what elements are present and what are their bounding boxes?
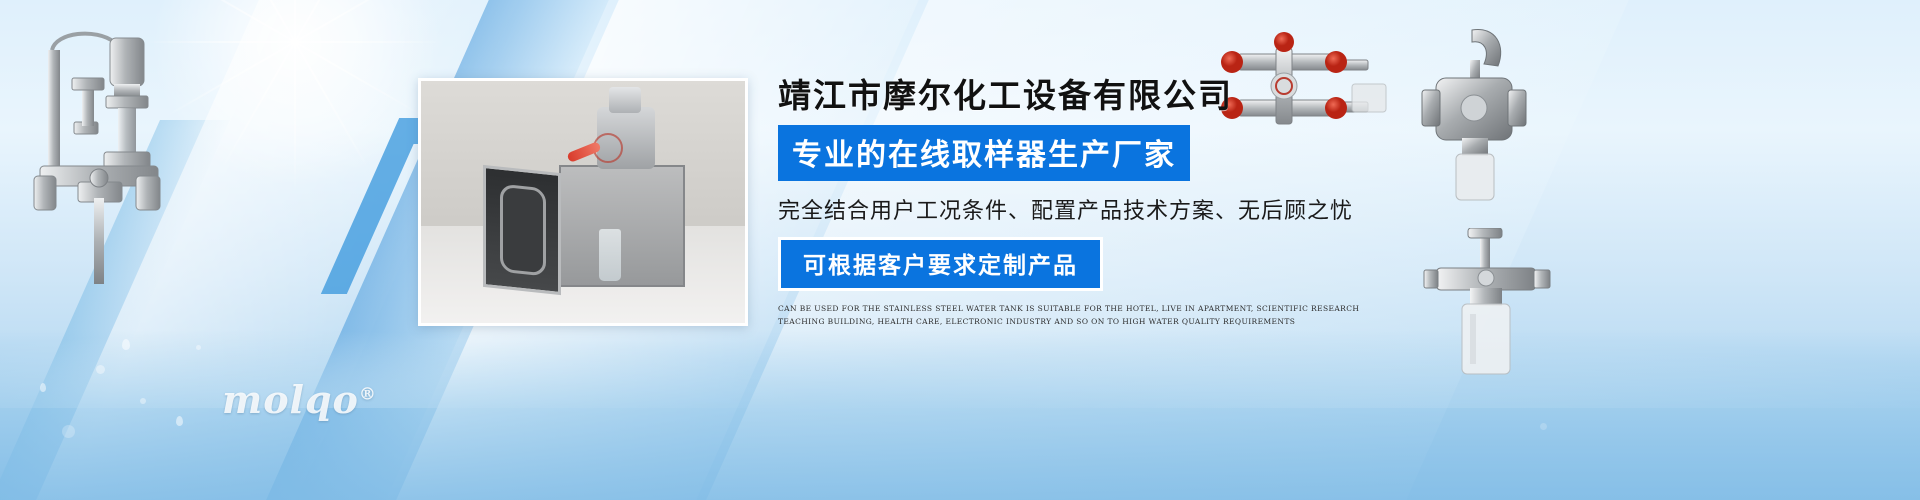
headline-highlight: 专业的在线取样器生产厂家 <box>778 125 1190 181</box>
watermark-text: molqo <box>222 377 359 422</box>
inline-sampler-illustration <box>1418 228 1558 408</box>
photo-door-window <box>500 184 546 277</box>
sampler-assembly-left-illustration <box>18 26 188 296</box>
photo-cabinet-body <box>559 165 685 287</box>
watermark-logo: molqo® <box>222 377 377 422</box>
registered-mark-icon: ® <box>359 384 377 404</box>
promo-banner: 靖江市摩尔化工设备有限公司 专业的在线取样器生产厂家 完全结合用户工况条件、配置… <box>0 0 1920 500</box>
bubble <box>140 398 146 404</box>
photo-sample-bottle <box>599 229 621 281</box>
handle-valve-illustration <box>1410 20 1540 220</box>
droplet <box>40 383 46 392</box>
custom-product-cta[interactable]: 可根据客户要求定制产品 <box>778 237 1103 291</box>
droplet <box>122 339 130 350</box>
bubble <box>96 365 105 374</box>
banner-text-column: 靖江市摩尔化工设备有限公司 专业的在线取样器生产厂家 完全结合用户工况条件、配置… <box>778 76 1418 328</box>
sub-headline: 完全结合用户工况条件、配置产品技术方案、无后顾之忧 <box>778 193 1418 225</box>
handle-valve-svg <box>1410 20 1540 220</box>
company-name: 靖江市摩尔化工设备有限公司 <box>778 76 1418 116</box>
product-photo <box>418 78 748 326</box>
inline-sampler-svg <box>1418 228 1558 408</box>
bubble <box>62 425 75 438</box>
product-photo-image <box>421 81 745 323</box>
bubble <box>196 345 201 350</box>
photo-cabinet-door <box>483 165 561 295</box>
sampler-left-svg <box>18 26 188 296</box>
bubble <box>1540 423 1547 430</box>
droplet <box>176 416 183 426</box>
english-description: CAN BE USED FOR THE STAINLESS STEEL WATE… <box>778 302 1378 328</box>
photo-valve-top <box>609 87 641 113</box>
